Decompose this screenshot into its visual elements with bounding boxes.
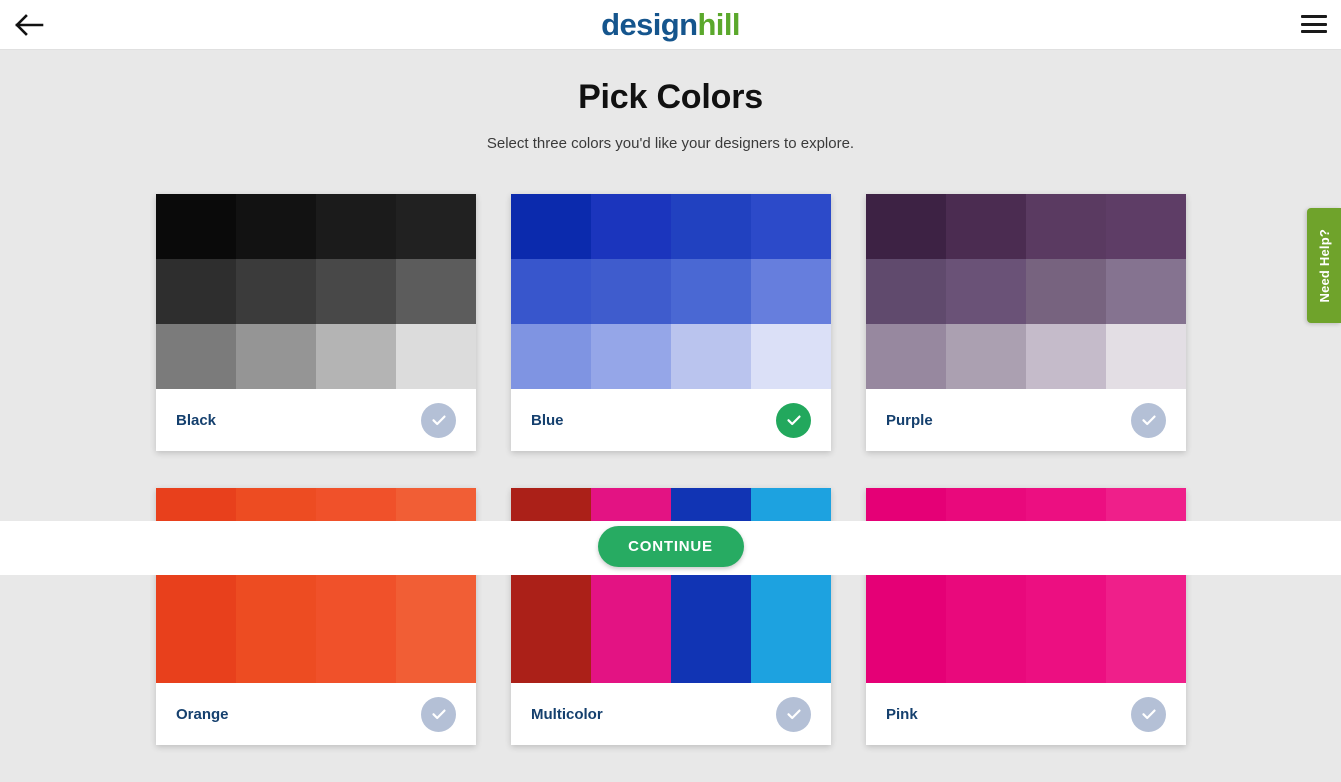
color-swatch <box>156 618 236 683</box>
palette-card-footer: Blue <box>511 389 831 451</box>
palette-card-footer: Purple <box>866 389 1186 451</box>
palette-name: Orange <box>176 706 229 723</box>
color-swatch <box>316 194 396 259</box>
color-swatch <box>1026 194 1106 259</box>
logo-text-design: design <box>601 7 697 42</box>
palette-card-blue[interactable]: Blue <box>511 194 831 451</box>
color-swatch <box>1026 618 1106 683</box>
back-button[interactable] <box>12 7 48 43</box>
color-swatch <box>866 618 946 683</box>
color-swatch <box>866 259 946 324</box>
swatch-grid <box>156 488 476 683</box>
swatch-grid <box>866 194 1186 389</box>
color-swatch <box>511 618 591 683</box>
hamburger-bar-3 <box>1301 30 1327 33</box>
color-swatch <box>1026 324 1106 389</box>
color-swatch <box>671 259 751 324</box>
palette-card-footer: Orange <box>156 683 476 745</box>
top-bar: designhill <box>0 0 1341 50</box>
color-swatch <box>396 194 476 259</box>
check-icon[interactable] <box>776 697 811 732</box>
swatch-grid <box>156 194 476 389</box>
color-swatch <box>1106 194 1186 259</box>
hamburger-bar-2 <box>1301 23 1327 26</box>
color-swatch <box>236 618 316 683</box>
color-swatch <box>751 324 831 389</box>
color-swatch <box>591 324 671 389</box>
palette-row: BlackBluePurple <box>156 194 1186 451</box>
palette-name: Black <box>176 412 216 429</box>
swatch-grid <box>511 488 831 683</box>
color-swatch <box>946 259 1026 324</box>
palette-name: Multicolor <box>531 706 603 723</box>
color-swatch <box>316 324 396 389</box>
color-swatch <box>751 259 831 324</box>
palette-card-black[interactable]: Black <box>156 194 476 451</box>
color-swatch <box>671 324 751 389</box>
need-help-tab[interactable]: Need Help? <box>1307 208 1341 323</box>
swatch-grid <box>511 194 831 389</box>
color-swatch <box>1106 618 1186 683</box>
need-help-label: Need Help? <box>1317 229 1332 303</box>
palette-card-purple[interactable]: Purple <box>866 194 1186 451</box>
palette-name: Pink <box>886 706 918 723</box>
page-title: Pick Colors <box>0 78 1341 117</box>
check-icon[interactable] <box>776 403 811 438</box>
color-swatch <box>591 618 671 683</box>
color-swatch <box>1026 259 1106 324</box>
color-swatch <box>511 194 591 259</box>
color-swatch <box>671 618 751 683</box>
color-swatch <box>866 324 946 389</box>
palette-card-footer: Pink <box>866 683 1186 745</box>
color-swatch <box>396 259 476 324</box>
color-swatch <box>316 618 396 683</box>
color-swatch <box>946 194 1026 259</box>
palette-card-footer: Multicolor <box>511 683 831 745</box>
color-swatch <box>396 618 476 683</box>
palette-name: Purple <box>886 412 933 429</box>
continue-button[interactable]: CONTINUE <box>598 526 744 567</box>
color-swatch <box>316 259 396 324</box>
color-swatch <box>591 259 671 324</box>
color-swatch <box>866 194 946 259</box>
arrow-left-icon <box>15 14 45 36</box>
color-swatch <box>1106 324 1186 389</box>
color-swatch <box>591 194 671 259</box>
color-swatch <box>1106 259 1186 324</box>
color-swatch <box>156 324 236 389</box>
check-icon[interactable] <box>421 403 456 438</box>
color-swatch <box>946 618 1026 683</box>
color-swatch <box>156 259 236 324</box>
color-swatch <box>946 324 1026 389</box>
designhill-logo[interactable]: designhill <box>601 8 740 42</box>
palette-name: Blue <box>531 412 564 429</box>
color-swatch <box>671 194 751 259</box>
check-icon[interactable] <box>1131 403 1166 438</box>
hamburger-menu-icon[interactable] <box>1301 13 1327 35</box>
logo-text-hill: hill <box>697 7 739 42</box>
color-swatch <box>236 259 316 324</box>
check-icon[interactable] <box>421 697 456 732</box>
color-swatch <box>396 324 476 389</box>
color-swatch <box>236 194 316 259</box>
color-swatch <box>751 618 831 683</box>
color-swatch <box>156 194 236 259</box>
hamburger-bar-1 <box>1301 15 1327 18</box>
page-subtitle: Select three colors you'd like your desi… <box>0 135 1341 152</box>
swatch-grid <box>866 488 1186 683</box>
color-swatch <box>511 324 591 389</box>
palette-grid: BlackBluePurpleOrangeMulticolorPink <box>156 194 1186 782</box>
palette-card-footer: Black <box>156 389 476 451</box>
color-swatch <box>751 194 831 259</box>
check-icon[interactable] <box>1131 697 1166 732</box>
color-swatch <box>236 324 316 389</box>
color-swatch <box>511 259 591 324</box>
